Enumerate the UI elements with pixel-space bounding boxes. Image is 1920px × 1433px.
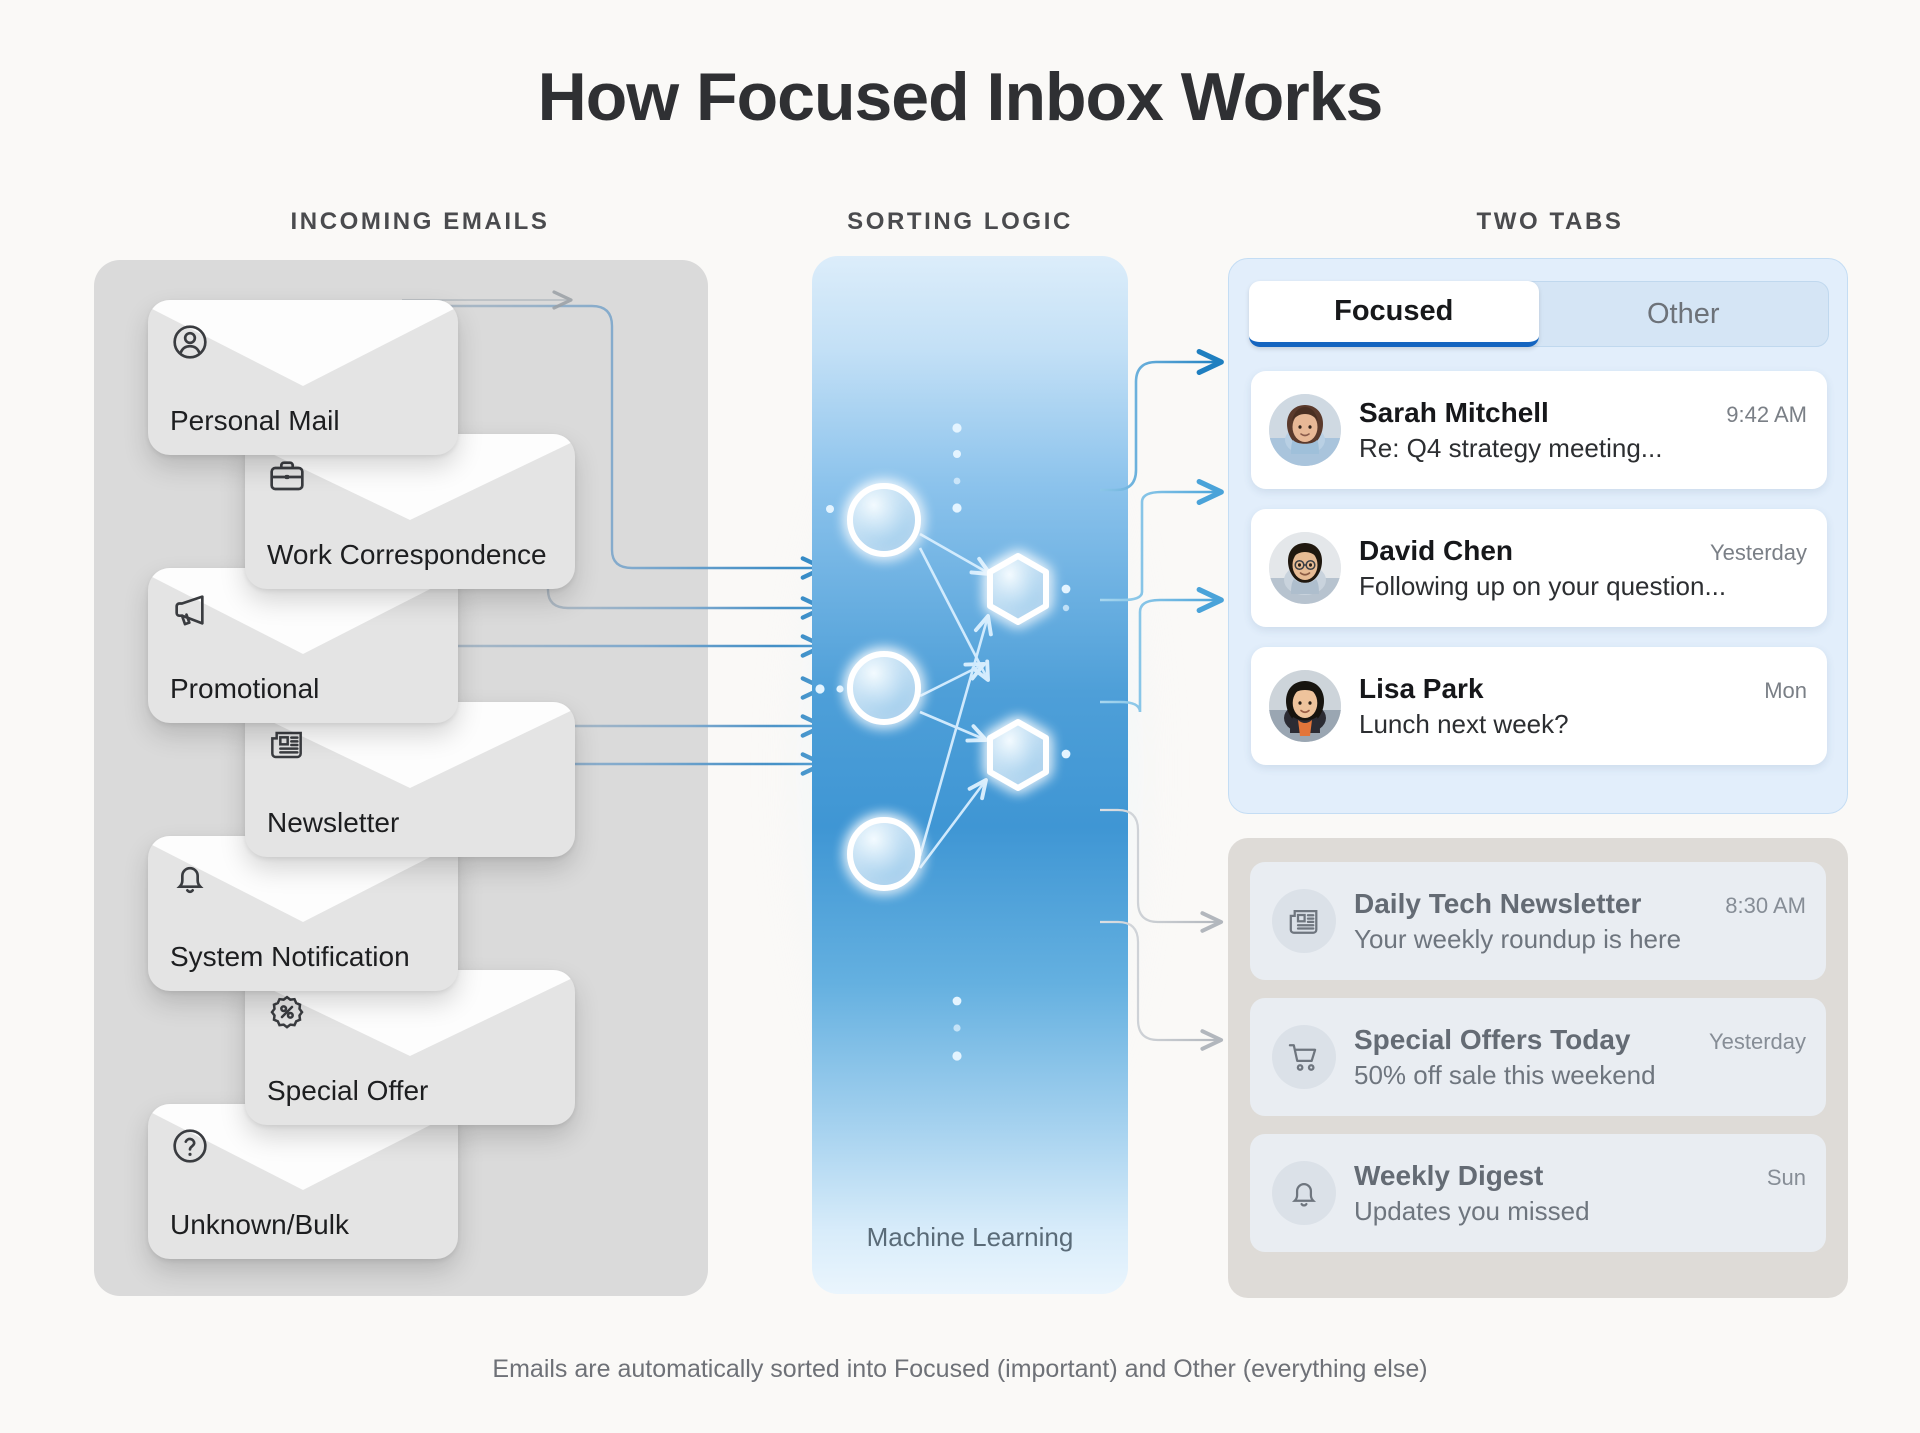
envelope-label: Personal Mail [170,405,340,437]
briefcase-icon [267,456,307,496]
envelope-label: Work Correspondence [267,539,547,571]
avatar [1269,394,1341,466]
avatar [1269,532,1341,604]
message-body: Weekly Digest Sun Updates you missed [1354,1160,1806,1227]
machine-learning-label: Machine Learning [812,1222,1128,1253]
shopping-cart-icon [1272,1025,1336,1089]
sender-name: Special Offers Today [1354,1024,1630,1056]
page-title: How Focused Inbox Works [0,58,1920,136]
message-body: Special Offers Today Yesterday 50% off s… [1354,1024,1806,1091]
question-circle-icon [170,1126,210,1166]
timestamp: 8:30 AM [1725,893,1806,919]
envelope-label: Promotional [170,673,319,705]
focused-tab-panel: Focused Other Sarah Mitchell 9:42 AM [1228,258,1848,814]
subject-preview: Following up on your question... [1359,571,1807,602]
subject-preview: Re: Q4 strategy meeting... [1359,433,1807,464]
envelope-card[interactable]: Work Correspondence [245,434,575,589]
sender-name: Sarah Mitchell [1359,397,1549,429]
timestamp: Yesterday [1710,540,1807,566]
envelope-card[interactable]: Newsletter [245,702,575,857]
other-message-row[interactable]: Weekly Digest Sun Updates you missed [1250,1134,1826,1252]
inbox-tabbar: Focused Other [1249,281,1829,347]
timestamp: Yesterday [1709,1029,1806,1055]
other-tab-panel: Daily Tech Newsletter 8:30 AM Your weekl… [1228,838,1848,1298]
newspaper-icon [267,724,307,764]
message-body: Sarah Mitchell 9:42 AM Re: Q4 strategy m… [1359,397,1807,464]
sender-name: Weekly Digest [1354,1160,1543,1192]
footer-caption: Emails are automatically sorted into Foc… [0,1355,1920,1384]
envelope-card[interactable]: Special Offer [245,970,575,1125]
message-body: Daily Tech Newsletter 8:30 AM Your weekl… [1354,888,1806,955]
megaphone-icon [170,590,210,630]
envelope-card[interactable]: Promotional [148,568,458,723]
column-caption-incoming: INCOMING EMAILS [130,208,710,236]
other-message-row[interactable]: Daily Tech Newsletter 8:30 AM Your weekl… [1250,862,1826,980]
bell-icon [1272,1161,1336,1225]
newspaper-icon [1272,889,1336,953]
sender-name: Lisa Park [1359,673,1484,705]
tab-other[interactable]: Other [1539,282,1829,346]
subject-preview: Updates you missed [1354,1196,1806,1227]
envelope-card[interactable]: System Notification [148,836,458,991]
envelope-label: Special Offer [267,1075,428,1107]
timestamp: 9:42 AM [1726,402,1807,428]
bell-icon [170,858,210,898]
sorting-logic-panel [812,256,1128,1294]
envelope-card[interactable]: Personal Mail [148,300,458,455]
envelope-label: Unknown/Bulk [170,1209,349,1241]
subject-preview: Your weekly roundup is here [1354,924,1806,955]
sender-name: Daily Tech Newsletter [1354,888,1641,920]
neural-network-diagram [812,256,1128,1294]
avatar [1269,670,1341,742]
subject-preview: 50% off sale this weekend [1354,1060,1806,1091]
column-caption-tabs: TWO TABS [1230,208,1870,236]
person-circle-icon [170,322,210,362]
envelope-label: Newsletter [267,807,399,839]
timestamp: Mon [1764,678,1807,704]
tab-focused[interactable]: Focused [1249,281,1539,347]
focused-message-row[interactable]: Sarah Mitchell 9:42 AM Re: Q4 strategy m… [1251,371,1827,489]
discount-badge-icon [267,992,307,1032]
timestamp: Sun [1767,1165,1806,1191]
message-body: David Chen Yesterday Following up on you… [1359,535,1807,602]
envelope-label: System Notification [170,941,410,973]
subject-preview: Lunch next week? [1359,709,1807,740]
sender-name: David Chen [1359,535,1513,567]
focused-message-row[interactable]: Lisa Park Mon Lunch next week? [1251,647,1827,765]
other-message-row[interactable]: Special Offers Today Yesterday 50% off s… [1250,998,1826,1116]
message-body: Lisa Park Mon Lunch next week? [1359,673,1807,740]
focused-message-row[interactable]: David Chen Yesterday Following up on you… [1251,509,1827,627]
envelope-card[interactable]: Unknown/Bulk [148,1104,458,1259]
